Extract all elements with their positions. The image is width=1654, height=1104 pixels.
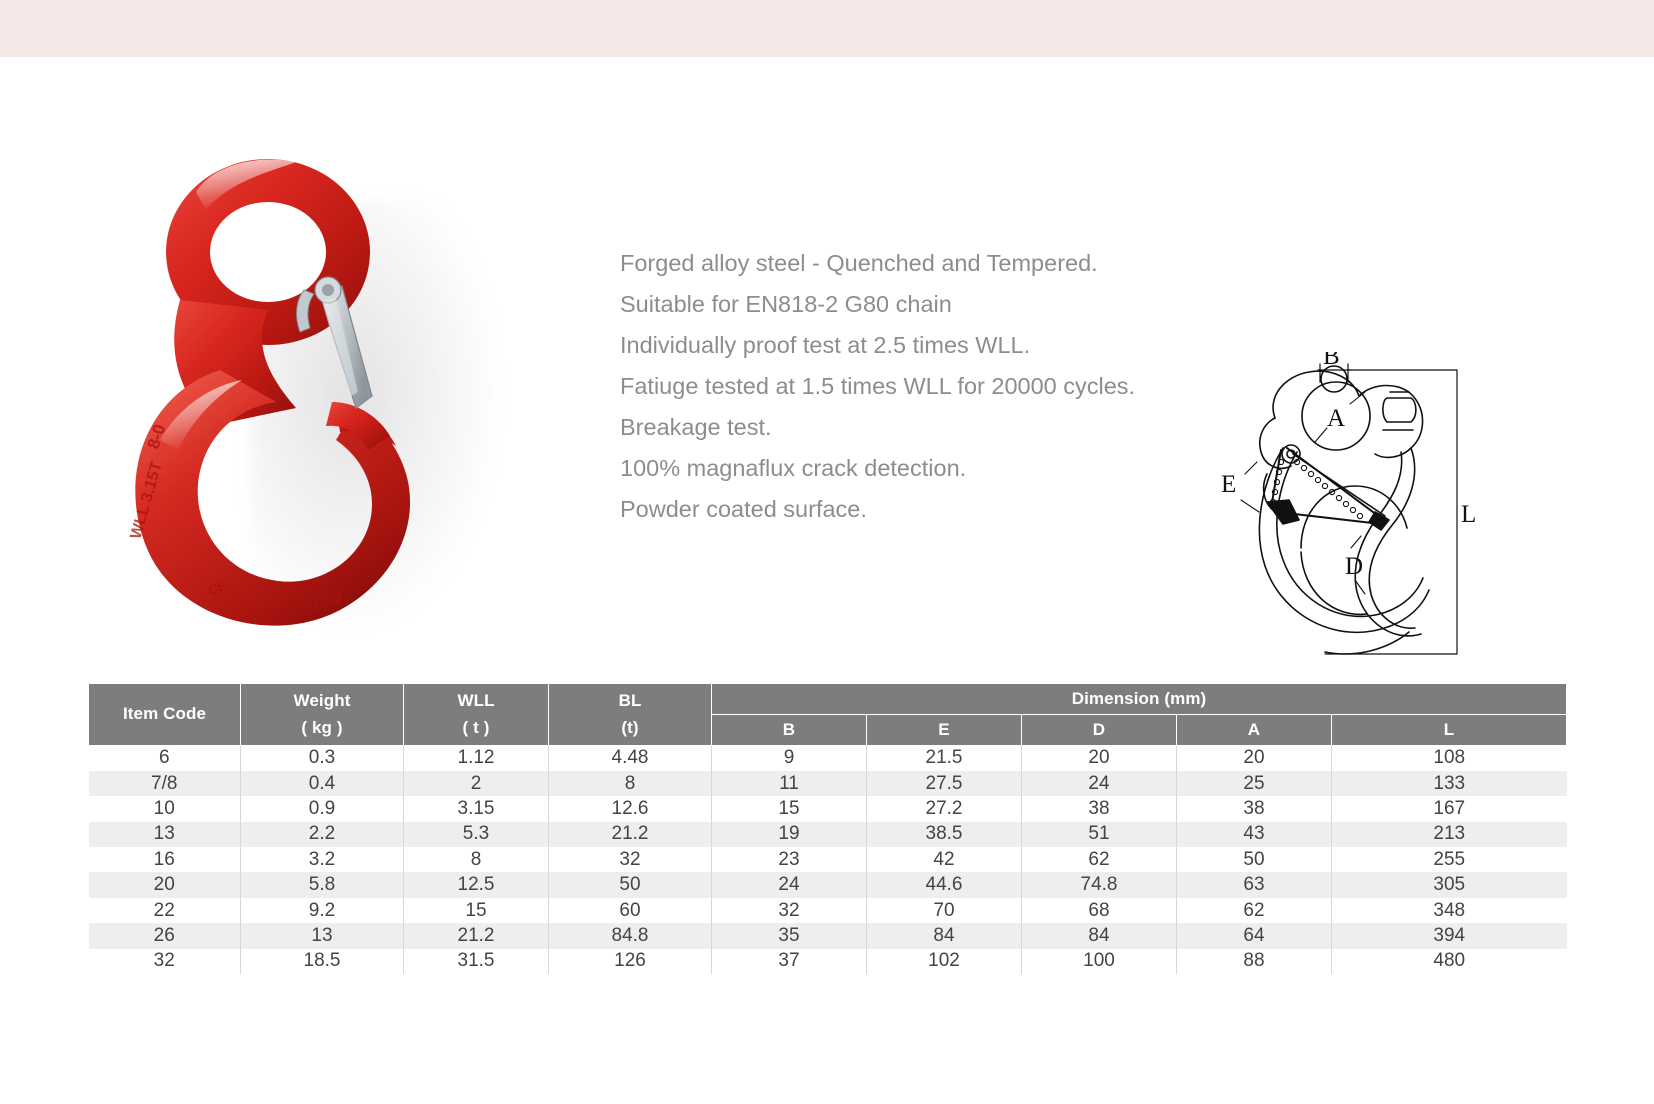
col-header-weight: Weight ( kg )	[241, 684, 404, 746]
cell-weight: 13	[241, 923, 404, 948]
cell-wll: 5.3	[404, 822, 549, 847]
table-row: 205.812.5502444.674.863305	[89, 872, 1567, 897]
description-line-6: 100% magnaflux crack detection.	[620, 448, 1220, 489]
dimension-label-B: B	[1323, 352, 1340, 370]
cell-L: 305	[1332, 872, 1567, 897]
cell-L: 133	[1332, 771, 1567, 796]
col-header-wll-label: WLL	[457, 691, 494, 710]
cell-L: 394	[1332, 923, 1567, 948]
cell-B: 32	[712, 898, 867, 923]
cell-B: 37	[712, 949, 867, 974]
cell-weight: 3.2	[241, 847, 404, 872]
description-line-3: Individually proof test at 2.5 times WLL…	[620, 325, 1220, 366]
cell-A: 88	[1177, 949, 1332, 974]
cell-E: 42	[867, 847, 1022, 872]
cell-item_code: 16	[89, 847, 241, 872]
col-header-bl-label: BL	[619, 691, 642, 710]
table-row: 7/80.4281127.52425133	[89, 771, 1567, 796]
cell-E: 27.2	[867, 796, 1022, 821]
cell-A: 20	[1177, 746, 1332, 771]
table-row: 3218.531.51263710210088480	[89, 949, 1567, 974]
product-photo: 8-0 WLL 3.15T CE 13-2	[100, 140, 520, 650]
cell-D: 62	[1022, 847, 1177, 872]
col-header-weight-label: Weight	[294, 691, 351, 710]
cell-E: 38.5	[867, 822, 1022, 847]
cell-L: 255	[1332, 847, 1567, 872]
cell-A: 50	[1177, 847, 1332, 872]
cell-item_code: 6	[89, 746, 241, 771]
cell-D: 84	[1022, 923, 1177, 948]
table-header-row-1: Item Code Weight ( kg ) WLL ( t ) BL (t)…	[89, 684, 1567, 715]
cell-bl: 8	[549, 771, 712, 796]
cell-item_code: 10	[89, 796, 241, 821]
cell-A: 38	[1177, 796, 1332, 821]
cell-item_code: 22	[89, 898, 241, 923]
cell-L: 108	[1332, 746, 1567, 771]
cell-weight: 9.2	[241, 898, 404, 923]
specification-table-container: Item Code Weight ( kg ) WLL ( t ) BL (t)…	[88, 683, 1566, 974]
cell-bl: 50	[549, 872, 712, 897]
cell-B: 24	[712, 872, 867, 897]
cell-E: 21.5	[867, 746, 1022, 771]
cell-B: 9	[712, 746, 867, 771]
cell-weight: 2.2	[241, 822, 404, 847]
cell-wll: 1.12	[404, 746, 549, 771]
cell-bl: 32	[549, 847, 712, 872]
cell-bl: 4.48	[549, 746, 712, 771]
cell-wll: 21.2	[404, 923, 549, 948]
top-banner	[0, 0, 1654, 57]
cell-bl: 60	[549, 898, 712, 923]
col-header-dim-A: A	[1177, 715, 1332, 746]
col-header-wll-unit: ( t )	[404, 715, 548, 741]
cell-B: 35	[712, 923, 867, 948]
description-line-5: Breakage test.	[620, 407, 1220, 448]
cell-L: 213	[1332, 822, 1567, 847]
cell-wll: 12.5	[404, 872, 549, 897]
cell-E: 27.5	[867, 771, 1022, 796]
description-line-2: Suitable for EN818-2 G80 chain	[620, 284, 1220, 325]
cell-wll: 3.15	[404, 796, 549, 821]
cell-E: 70	[867, 898, 1022, 923]
table-row: 163.283223426250255	[89, 847, 1567, 872]
cell-A: 63	[1177, 872, 1332, 897]
cell-E: 44.6	[867, 872, 1022, 897]
cell-A: 43	[1177, 822, 1332, 847]
col-header-bl-unit: (t)	[549, 715, 711, 741]
table-row: 261321.284.835848464394	[89, 923, 1567, 948]
cell-wll: 8	[404, 847, 549, 872]
cell-item_code: 20	[89, 872, 241, 897]
cell-A: 25	[1177, 771, 1332, 796]
cell-D: 38	[1022, 796, 1177, 821]
eye-sling-hook-illustration: 8-0 WLL 3.15T CE 13-2	[100, 140, 520, 650]
col-header-item-code-label: Item Code	[123, 704, 206, 723]
cell-bl: 12.6	[549, 796, 712, 821]
cell-wll: 31.5	[404, 949, 549, 974]
col-header-dim-L: L	[1332, 715, 1567, 746]
product-description: Forged alloy steel - Quenched and Temper…	[620, 243, 1220, 530]
table-body: 60.31.124.48921.520201087/80.4281127.524…	[89, 746, 1567, 975]
cell-L: 167	[1332, 796, 1567, 821]
cell-bl: 21.2	[549, 822, 712, 847]
cell-B: 23	[712, 847, 867, 872]
dimension-label-D: D	[1345, 553, 1363, 580]
cell-wll: 15	[404, 898, 549, 923]
cell-weight: 0.9	[241, 796, 404, 821]
cell-D: 51	[1022, 822, 1177, 847]
col-header-dim-B: B	[712, 715, 867, 746]
cell-E: 84	[867, 923, 1022, 948]
col-header-weight-unit: ( kg )	[241, 715, 403, 741]
cell-weight: 18.5	[241, 949, 404, 974]
cell-wll: 2	[404, 771, 549, 796]
cell-weight: 0.3	[241, 746, 404, 771]
description-line-1: Forged alloy steel - Quenched and Temper…	[620, 243, 1220, 284]
table-row: 60.31.124.48921.52020108	[89, 746, 1567, 771]
specification-table: Item Code Weight ( kg ) WLL ( t ) BL (t)…	[88, 683, 1567, 974]
table-row: 132.25.321.21938.55143213	[89, 822, 1567, 847]
cell-D: 24	[1022, 771, 1177, 796]
col-header-dim-E: E	[867, 715, 1022, 746]
cell-B: 11	[712, 771, 867, 796]
cell-D: 68	[1022, 898, 1177, 923]
cell-E: 102	[867, 949, 1022, 974]
cell-bl: 126	[549, 949, 712, 974]
cell-item_code: 13	[89, 822, 241, 847]
cell-weight: 5.8	[241, 872, 404, 897]
cell-A: 64	[1177, 923, 1332, 948]
col-header-item-code: Item Code	[89, 684, 241, 746]
cell-item_code: 26	[89, 923, 241, 948]
col-header-wll: WLL ( t )	[404, 684, 549, 746]
cell-D: 100	[1022, 949, 1177, 974]
col-header-dimension-group: Dimension (mm)	[712, 684, 1567, 715]
cell-bl: 84.8	[549, 923, 712, 948]
dimension-label-A: A	[1327, 405, 1345, 432]
dimension-label-E: E	[1221, 471, 1236, 498]
technical-dimension-drawing: B A E D L	[1205, 352, 1475, 672]
table-row: 100.93.1512.61527.23838167	[89, 796, 1567, 821]
dimension-label-L: L	[1461, 501, 1475, 528]
cell-D: 74.8	[1022, 872, 1177, 897]
cell-item_code: 7/8	[89, 771, 241, 796]
cell-item_code: 32	[89, 949, 241, 974]
col-header-dim-D: D	[1022, 715, 1177, 746]
cell-B: 19	[712, 822, 867, 847]
col-header-bl: BL (t)	[549, 684, 712, 746]
description-line-4: Fatiuge tested at 1.5 times WLL for 2000…	[620, 366, 1220, 407]
cell-D: 20	[1022, 746, 1177, 771]
table-row: 229.2156032706862348	[89, 898, 1567, 923]
description-line-7: Powder coated surface.	[620, 489, 1220, 530]
cell-L: 480	[1332, 949, 1567, 974]
cell-B: 15	[712, 796, 867, 821]
cell-weight: 0.4	[241, 771, 404, 796]
safety-latch	[297, 277, 372, 408]
cell-A: 62	[1177, 898, 1332, 923]
cell-L: 348	[1332, 898, 1567, 923]
